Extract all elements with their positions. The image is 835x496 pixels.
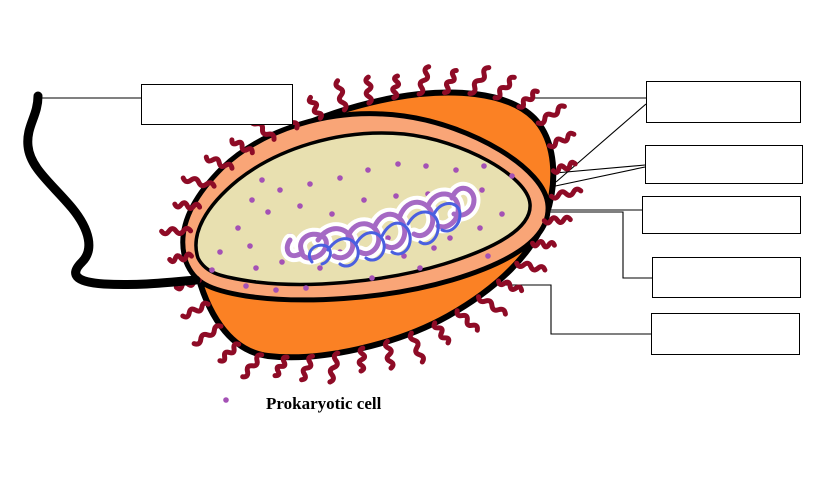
prokaryotic-cell-diagram: Prokaryotic cell (0, 0, 835, 496)
ribosome-dot (317, 265, 323, 271)
ribosome-dot (279, 259, 285, 265)
ribosome-dot (265, 209, 271, 215)
ribosome-dot (235, 225, 241, 231)
pilus (470, 68, 489, 94)
ribosome-dot (337, 175, 343, 181)
pilus (232, 140, 252, 153)
ribosome-label-box[interactable] (651, 313, 800, 355)
pilus (243, 355, 262, 377)
cell-illustration (0, 0, 835, 496)
pilus (445, 71, 457, 93)
ribosome-dot (247, 243, 253, 249)
pilus (499, 281, 522, 291)
ribosome-dot (329, 211, 335, 217)
nucleoid-label-box[interactable] (652, 257, 801, 298)
pilus (434, 323, 449, 343)
pilus (183, 303, 208, 317)
pilus (549, 133, 574, 147)
ribosome-dot (223, 397, 229, 403)
ribosome-dot (259, 177, 265, 183)
pilus (393, 76, 399, 98)
pilus (495, 77, 514, 98)
pilus (410, 333, 423, 362)
ribosome-dot (485, 253, 491, 259)
pilus (538, 106, 564, 124)
pilus (366, 77, 371, 103)
ribosome-dot (209, 267, 215, 273)
ribosome-dot (453, 167, 459, 173)
pilus (309, 97, 321, 118)
ribosome-dot (253, 265, 259, 271)
plasma-membrane-label-box[interactable] (642, 196, 801, 234)
ribosome-dot (477, 225, 483, 231)
ribosome-dot (479, 187, 485, 193)
ribosome-dot (277, 187, 283, 193)
pilus (336, 81, 346, 110)
ribosome-dot (307, 181, 313, 187)
ribosome-dot (369, 275, 375, 281)
ribosome-dot (249, 197, 255, 203)
ribosome-dot (509, 173, 515, 179)
pilus (553, 162, 575, 172)
ribosome-dot (365, 167, 371, 173)
pilus (457, 311, 477, 331)
ribosome-dot (447, 235, 453, 241)
pilus (330, 353, 338, 382)
cell-wall-label-box[interactable] (645, 145, 803, 184)
ribosome-dot (393, 193, 399, 199)
pilus (551, 189, 581, 198)
pilus (220, 344, 239, 361)
ribosome-dot (297, 203, 303, 209)
capsule-label-box[interactable] (646, 81, 801, 123)
ribosome-dot (303, 285, 309, 291)
pilus (479, 297, 506, 314)
ribosome-dot (395, 161, 401, 167)
pilus (275, 357, 287, 375)
ribosome-dot (243, 283, 249, 289)
ribosome-dot (417, 265, 423, 271)
pilus (517, 263, 545, 270)
pilus (419, 67, 429, 94)
pilus (194, 326, 221, 344)
pilus (519, 91, 538, 107)
flagellum-label-box[interactable] (141, 84, 293, 125)
pilus (359, 348, 364, 371)
ribosome-dot (217, 249, 223, 255)
ribosome-dot (481, 163, 487, 169)
ribosome-dot (431, 245, 437, 251)
ribosome-dot (499, 211, 505, 217)
pilus (385, 341, 393, 368)
ribosome-dot (273, 287, 279, 293)
ribosome-dot (423, 163, 429, 169)
figure-caption: Prokaryotic cell (266, 394, 381, 414)
ribosome-dot (361, 197, 367, 203)
pilus (206, 157, 232, 168)
